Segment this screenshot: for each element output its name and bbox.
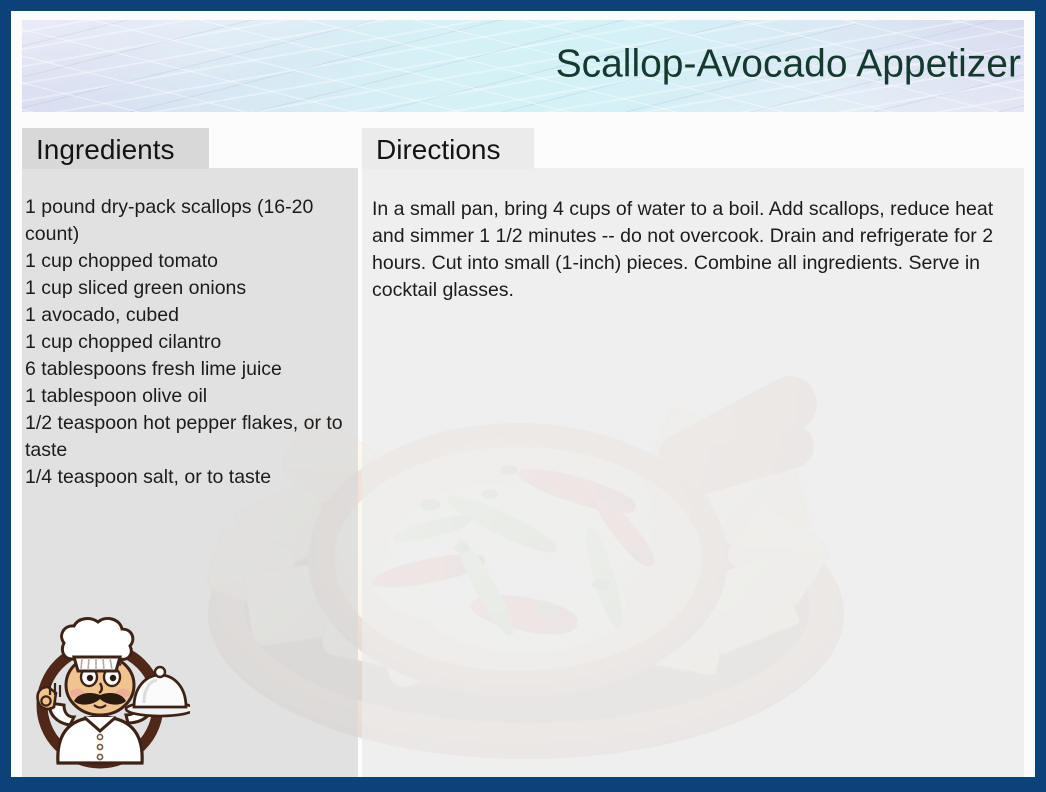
section-header-directions: Directions [362,128,534,169]
ingredients-list: 1 pound dry-pack scallops (16-20 count) … [25,194,355,491]
list-item: 1 tablespoon olive oil [25,383,355,410]
list-item: 1 avocado, cubed [25,302,355,329]
chef-mascot-logo [24,613,190,773]
card-inner-area: Scallop-Avocado Appetizer Ingredients Di… [11,11,1035,777]
page-title: Scallop-Avocado Appetizer [556,45,1021,86]
list-item: 1 cup sliced green onions [25,275,355,302]
directions-text: In a small pan, bring 4 cups of water to… [372,196,1020,304]
section-header-ingredients: Ingredients [22,128,209,169]
header-banner: Scallop-Avocado Appetizer [22,20,1024,112]
list-item: 1/2 teaspoon hot pepper flakes, or to ta… [25,410,355,464]
list-item: 1 cup chopped tomato [25,248,355,275]
recipe-card: Scallop-Avocado Appetizer Ingredients Di… [0,0,1046,792]
list-item: 6 tablespoons fresh lime juice [25,356,355,383]
chef-mascot-icon [24,613,190,773]
list-item: 1/4 teaspoon salt, or to taste [25,464,355,491]
list-item: 1 pound dry-pack scallops (16-20 count) [25,194,355,248]
list-item: 1 cup chopped cilantro [25,329,355,356]
